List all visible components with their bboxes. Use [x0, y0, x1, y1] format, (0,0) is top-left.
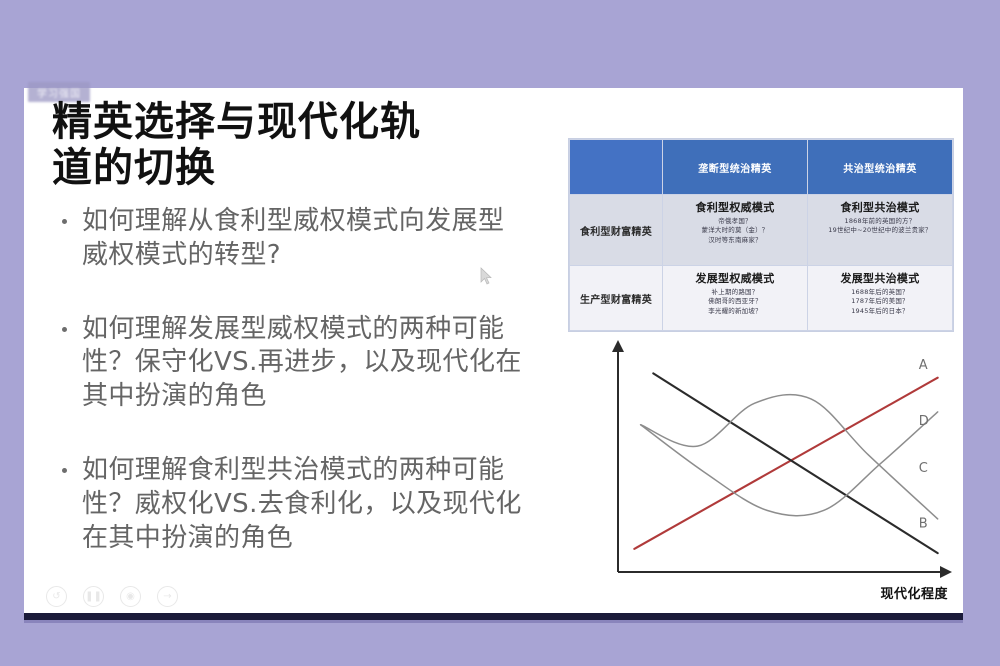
cell-rentier-shared: 食利型共治模式 1868年前的英国的方？ 19世纪中~20世纪中的波兰贵家？ — [808, 195, 953, 266]
chart-label-C: C — [919, 461, 928, 476]
modernization-chart: ABCD 现代化程度 — [576, 334, 958, 606]
list-item: 如何理解发展型威权模式的两种可能性？保守化VS.再进步，以及现代化在其中扮演的角… — [58, 313, 523, 414]
cell-subtext: 1787年后的美国？ — [810, 297, 950, 306]
chart-canvas: ABCD — [576, 334, 958, 606]
chart-x-axis-label: 现代化程度 — [880, 583, 948, 602]
forward-icon[interactable]: → — [157, 586, 178, 607]
column-header-shared: 共治型统治精英 — [808, 140, 953, 195]
screen: 学习强国 精英选择与现代化轨 道的切换 如何理解从食利型威权模式向发展型威权模式… — [0, 0, 1000, 666]
chart-label-A: A — [919, 358, 928, 373]
cell-rentier-authoritarian: 食利型权威模式 帝俄孝国？ 蒙洋大时的莫（金）？ 汉时等东南麻家？ — [663, 195, 808, 266]
column-header-monopoly: 垄断型统治精英 — [663, 140, 808, 195]
cell-subtext: 佛朗哥的西亚牙？ — [665, 297, 805, 306]
table-corner-cell — [570, 140, 663, 195]
slide-bottom-bar-shadow — [24, 620, 963, 623]
cell-subtext: 蒙洋大时的莫（金）？ — [665, 226, 805, 235]
chart-series-B — [653, 373, 937, 553]
bullet-list: 如何理解从食利型威权模式向发展型威权模式的转型? 如何理解发展型威权模式的两种可… — [58, 205, 523, 595]
list-item: 如何理解食利型共治模式的两种可能性？威权化VS.去食利化，以及现代化在其中扮演的… — [58, 454, 523, 555]
chart-label-B: B — [919, 516, 928, 531]
slide-bottom-bar — [24, 613, 963, 620]
player-controls[interactable]: ↺ ❚❚ ◉ → — [46, 586, 178, 607]
cell-subtext: 补上期的路国？ — [665, 288, 805, 297]
row-header-rentier: 食利型财富精英 — [570, 195, 663, 266]
table-header-row: 垄断型统治精英 共治型统治精英 — [570, 140, 953, 195]
chart-label-D: D — [919, 414, 929, 429]
cell-title: 食利型共治模式 — [810, 199, 950, 215]
cell-subtext: 1688年后的英国？ — [810, 288, 950, 297]
cell-developmental-shared: 发展型共治模式 1688年后的英国？ 1787年后的美国？ 1945年后的日本？ — [808, 266, 953, 331]
table-header: 垄断型统治精英 共治型统治精英 — [570, 140, 953, 195]
cell-subtext: 汉时等东南麻家？ — [665, 236, 805, 245]
rewind-icon[interactable]: ↺ — [46, 586, 67, 607]
cell-subtext: 1868年前的英国的方？ — [810, 217, 950, 226]
cell-title: 发展型权威模式 — [665, 270, 805, 286]
cell-title: 发展型共治模式 — [810, 270, 950, 286]
chart-series-D — [641, 412, 938, 516]
cell-developmental-authoritarian: 发展型权威模式 补上期的路国？ 佛朗哥的西亚牙？ 李光耀的新加坡？ — [663, 266, 808, 331]
table-body: 食利型财富精英 食利型权威模式 帝俄孝国？ 蒙洋大时的莫（金）？ 汉时等东南麻家… — [570, 195, 953, 331]
record-icon[interactable]: ◉ — [120, 586, 141, 607]
cell-subtext: 1945年后的日本？ — [810, 307, 950, 316]
pause-icon[interactable]: ❚❚ — [83, 586, 104, 607]
cell-subtext: 李光耀的新加坡？ — [665, 307, 805, 316]
cell-subtext: 帝俄孝国？ — [665, 217, 805, 226]
page-title-line2: 道的切换 — [52, 146, 522, 192]
table-row: 生产型财富精英 发展型权威模式 补上期的路国？ 佛朗哥的西亚牙？ 李光耀的新加坡… — [570, 266, 953, 331]
elite-matrix-table: 垄断型统治精英 共治型统治精英 食利型财富精英 食利型权威模式 帝俄孝国？ 蒙洋… — [569, 139, 953, 331]
page-title-line1: 精英选择与现代化轨 — [52, 100, 522, 146]
row-header-productive: 生产型财富精英 — [570, 266, 663, 331]
chart-series-layer — [634, 373, 937, 553]
chart-series-C — [641, 395, 938, 519]
list-item: 如何理解从食利型威权模式向发展型威权模式的转型? — [58, 205, 523, 273]
cell-subtext: 19世纪中~20世纪中的波兰贵家？ — [810, 226, 950, 235]
cell-title: 食利型权威模式 — [665, 199, 805, 215]
mouse-cursor-icon — [480, 267, 492, 285]
page-title: 精英选择与现代化轨 道的切换 — [52, 100, 522, 191]
table-row: 食利型财富精英 食利型权威模式 帝俄孝国？ 蒙洋大时的莫（金）？ 汉时等东南麻家… — [570, 195, 953, 266]
